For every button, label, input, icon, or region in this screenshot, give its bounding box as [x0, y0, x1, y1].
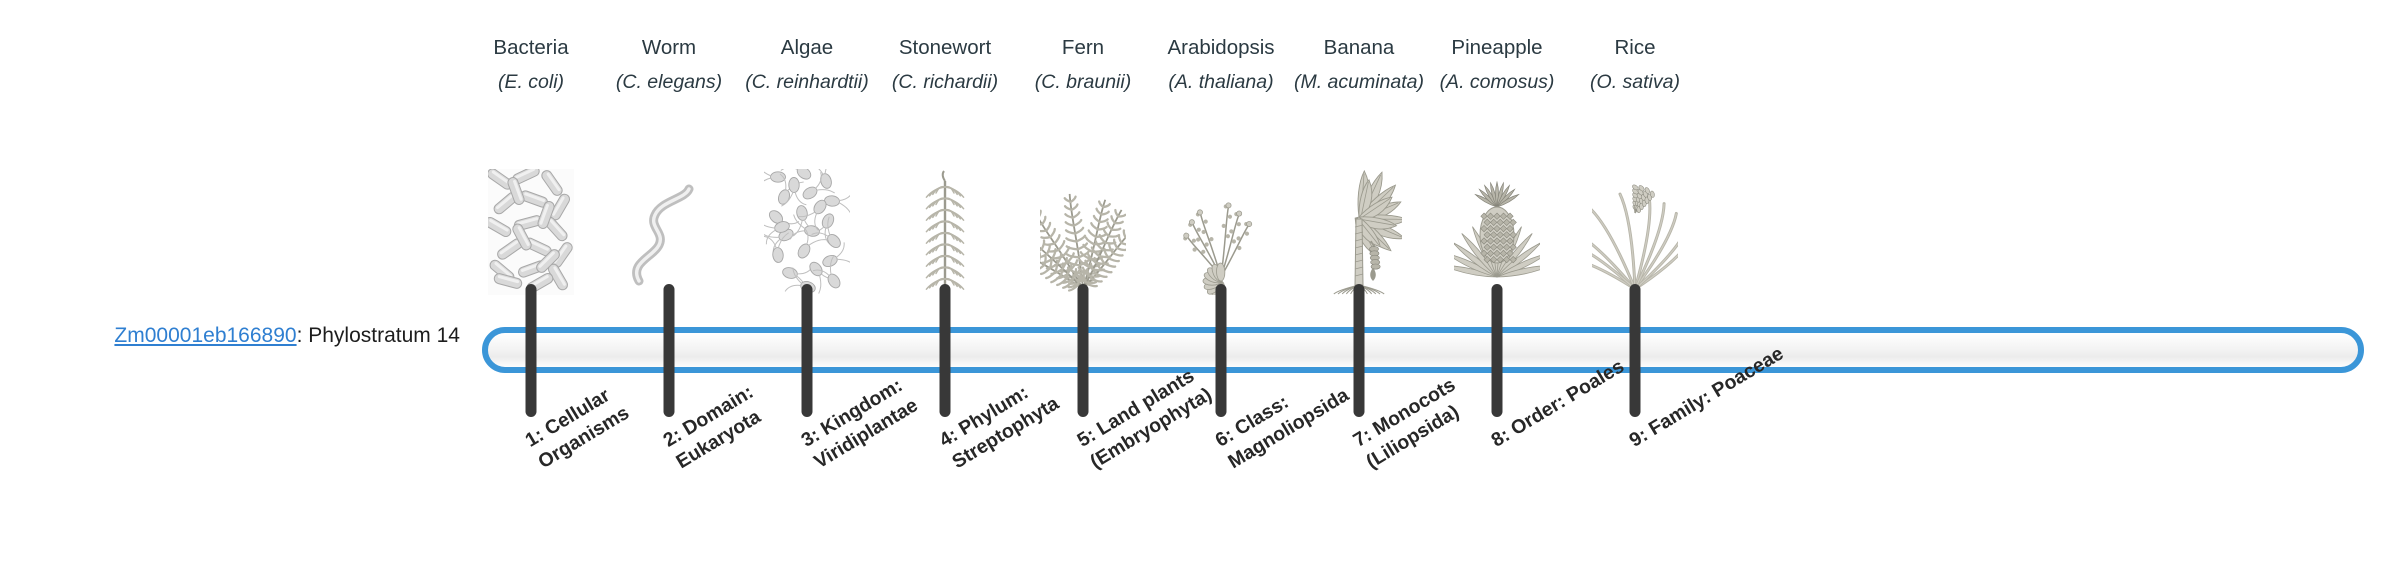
track-outline — [482, 327, 2364, 373]
phylostratum-track[interactable] — [482, 327, 2364, 373]
species-columns: Bacteria (E. coli) — [482, 0, 2364, 580]
stonewort-icon — [876, 160, 1014, 295]
gene-id-link[interactable]: Zm00001eb166890 — [114, 324, 296, 347]
algae-icon — [738, 160, 876, 295]
fern-icon — [1014, 160, 1152, 295]
rice-icon — [1566, 160, 1704, 295]
gene-stratum-label: Zm00001eb166890: Phylostratum 14 — [0, 324, 460, 348]
bacteria-icon — [462, 160, 600, 295]
gene-label-separator: : — [297, 324, 309, 347]
phylostratum-tick[interactable] — [526, 284, 537, 417]
pineapple-icon — [1428, 160, 1566, 295]
species-scientific-name: (O. sativa) — [1552, 71, 1718, 94]
phylostratum-value: Phylostratum 14 — [308, 324, 460, 347]
species-header: Rice (O. sativa) — [1552, 36, 1718, 94]
banana-icon — [1290, 160, 1428, 295]
arabidopsis-icon — [1152, 160, 1290, 295]
worm-icon — [600, 160, 738, 295]
phylostratum-figure: Zm00001eb166890: Phylostratum 14 Bacteri… — [0, 0, 2400, 580]
species-common-name: Rice — [1552, 36, 1718, 60]
